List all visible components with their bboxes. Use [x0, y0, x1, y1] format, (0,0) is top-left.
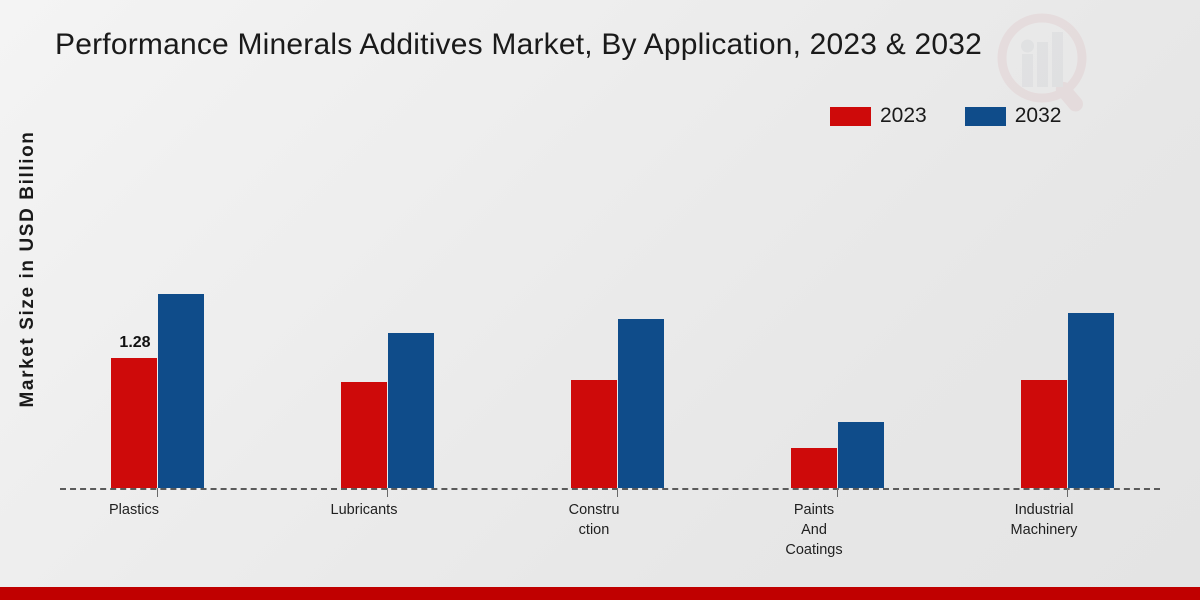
- bar-2032[interactable]: [1068, 313, 1114, 488]
- chart-title: Performance Minerals Additives Market, B…: [55, 28, 1115, 62]
- legend-swatch-2032: [965, 107, 1006, 126]
- bar-2023[interactable]: [571, 380, 617, 488]
- legend-item-2023[interactable]: 2023: [830, 104, 927, 128]
- bar-2023[interactable]: [791, 448, 837, 488]
- x-axis-baseline: [60, 488, 1160, 490]
- bar-2023[interactable]: 1.28: [111, 358, 157, 488]
- chart-legend: 2023 2032: [830, 104, 1061, 128]
- x-axis-category-label: Plastics: [56, 500, 212, 520]
- x-axis-tick: [837, 488, 838, 497]
- x-axis-tick: [157, 488, 158, 497]
- x-axis-category-label: IndustrialMachinery: [966, 500, 1122, 540]
- category-label-line: Coatings: [736, 540, 892, 560]
- y-axis-title: Market Size in USD Billion: [17, 89, 39, 449]
- bar-value-label: 1.28: [107, 334, 163, 352]
- chart-container: Performance Minerals Additives Market, B…: [0, 0, 1200, 600]
- x-axis-tick: [1067, 488, 1068, 497]
- bar-2032[interactable]: [618, 319, 664, 488]
- legend-swatch-2023: [830, 107, 871, 126]
- x-axis-tick: [617, 488, 618, 497]
- bar-2023[interactable]: [1021, 380, 1067, 488]
- x-axis-category-label: PaintsAndCoatings: [736, 500, 892, 560]
- bar-2023[interactable]: [341, 382, 387, 488]
- category-label-line: Paints: [736, 500, 892, 520]
- x-axis-category-label: Lubricants: [286, 500, 442, 520]
- category-label-line: Industrial: [966, 500, 1122, 520]
- x-axis-category-label: Construction: [516, 500, 672, 540]
- plot-area: 1.28PlasticsLubricantsConstructionPaints…: [60, 140, 1160, 488]
- x-axis-tick: [387, 488, 388, 497]
- category-label-line: And: [736, 520, 892, 540]
- category-label-line: Machinery: [966, 520, 1122, 540]
- bar-2032[interactable]: [838, 422, 884, 488]
- legend-label-2023: 2023: [880, 104, 927, 128]
- legend-label-2032: 2032: [1015, 104, 1062, 128]
- bottom-accent-stripe: [0, 587, 1200, 600]
- category-label-line: Constru: [516, 500, 672, 520]
- category-label-line: Plastics: [56, 500, 212, 520]
- bar-2032[interactable]: [388, 333, 434, 488]
- bar-2032[interactable]: [158, 294, 204, 488]
- legend-item-2032[interactable]: 2032: [965, 104, 1062, 128]
- category-label-line: ction: [516, 520, 672, 540]
- category-label-line: Lubricants: [286, 500, 442, 520]
